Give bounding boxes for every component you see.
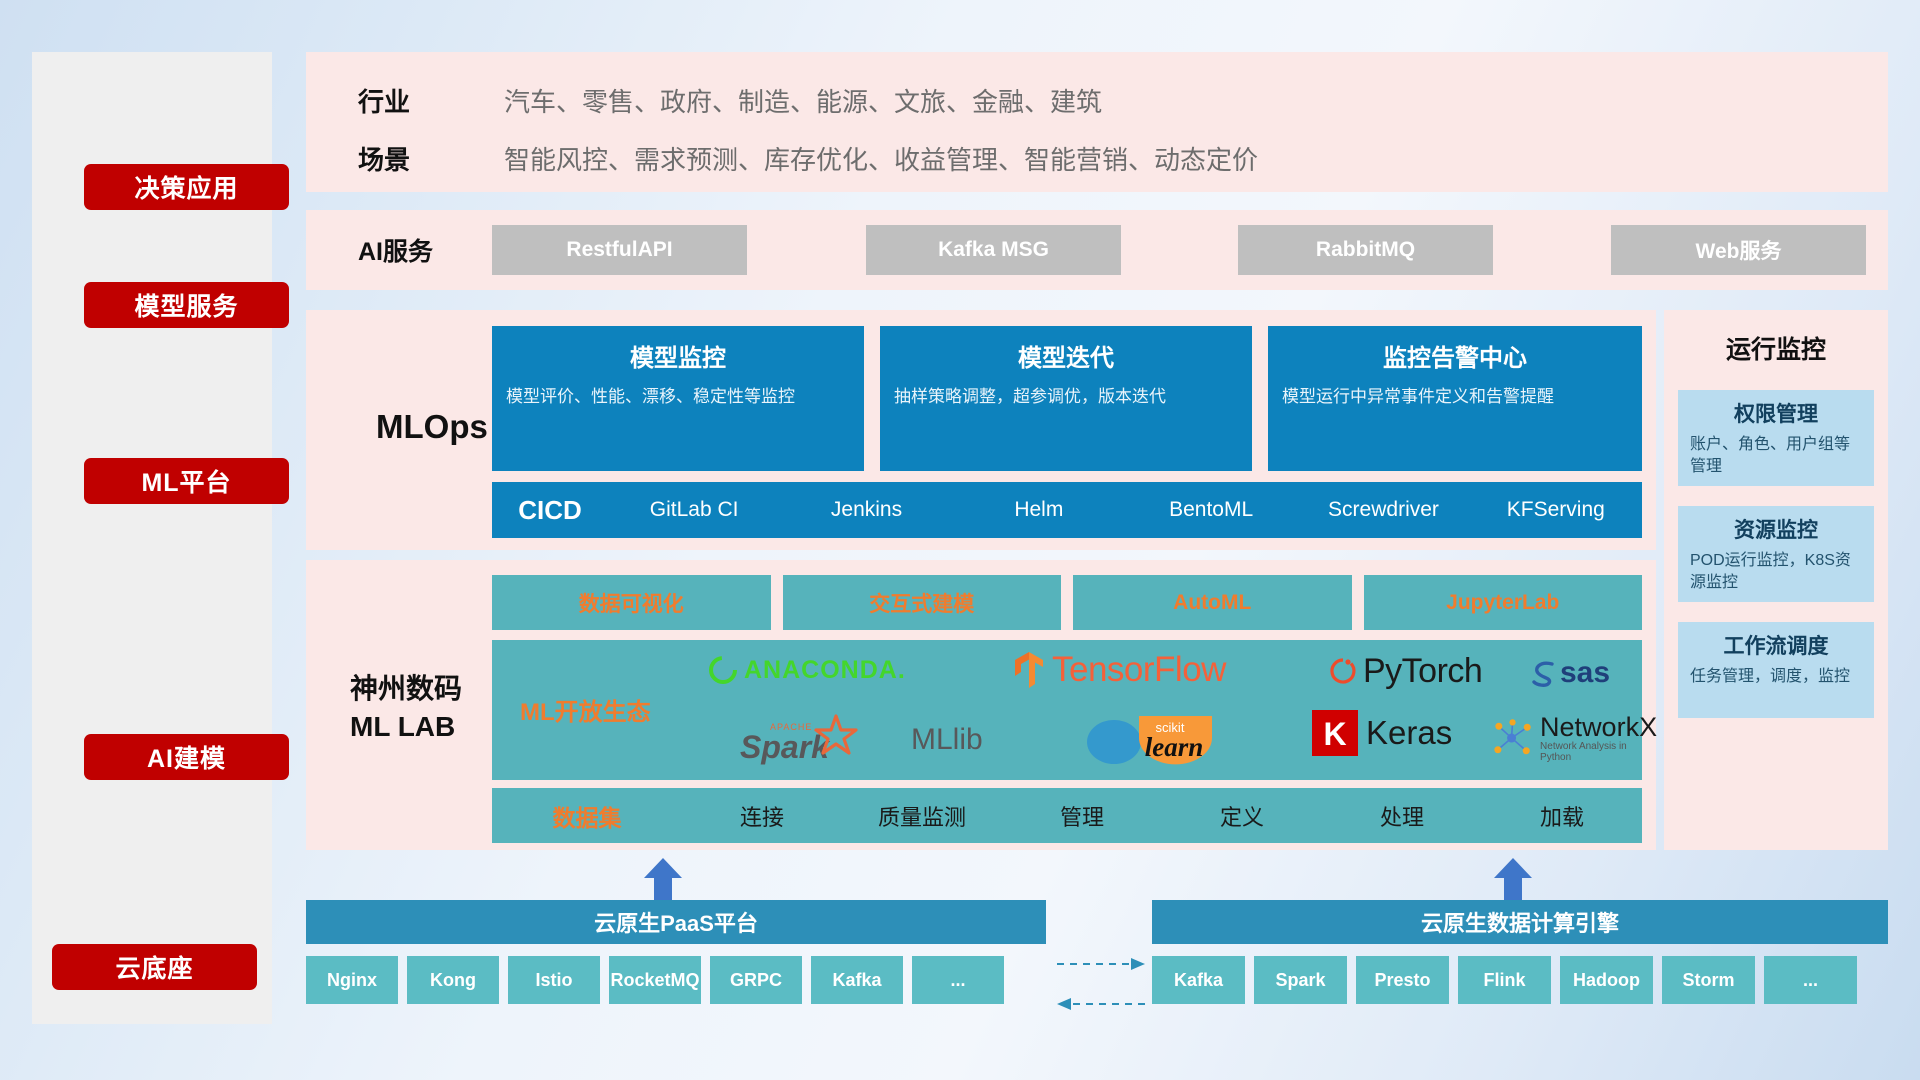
architecture-diagram: 决策应用 模型服务 ML平台 AI建模 云底座 行业 汽车、零售、政府、制造、能… xyxy=(0,0,1920,1080)
card-title: 权限管理 xyxy=(1690,398,1862,428)
card-desc: 账户、角色、用户组等管理 xyxy=(1690,434,1862,477)
sas-icon xyxy=(1528,658,1558,688)
card-desc: 模型评价、性能、漂移、稳定性等监控 xyxy=(506,385,850,408)
rail-item-decision-app[interactable]: 决策应用 xyxy=(84,164,289,210)
tag-istio[interactable]: Istio xyxy=(508,956,600,1004)
ml-ecosystem-caption: ML开放生态 xyxy=(520,692,651,727)
cicd-item-screwdriver[interactable]: Screwdriver xyxy=(1297,499,1469,521)
cicd-item-gitlab-ci[interactable]: GitLab CI xyxy=(608,499,780,521)
monitor-card-resource[interactable]: 资源监控 POD运行监控，K8S资源监控 xyxy=(1678,506,1874,602)
ml-ecosystem-panel: ML开放生态 ANACONDA . TensorFlow xyxy=(492,640,1642,780)
pytorch-icon xyxy=(1328,655,1358,689)
tag-flink[interactable]: Flink xyxy=(1458,956,1551,1004)
bidirectional-link-icon xyxy=(1055,952,1147,1022)
ml-lab-label-line2: ML LAB xyxy=(350,708,462,746)
runtime-monitor-panel: 运行监控 权限管理 账户、角色、用户组等管理 资源监控 POD运行监控，K8S资… xyxy=(1664,310,1888,850)
mlops-card-model-monitor[interactable]: 模型监控 模型评价、性能、漂移、稳定性等监控 xyxy=(492,326,864,471)
sas-logo: sas xyxy=(1528,656,1610,690)
keras-wordmark: Keras xyxy=(1366,714,1452,752)
tensorflow-wordmark: TensorFlow xyxy=(1052,650,1226,690)
tool-interactive-modeling[interactable]: 交互式建模 xyxy=(783,575,1062,630)
cicd-item-kfserving[interactable]: KFServing xyxy=(1470,499,1642,521)
scikit-learn-logo: scikit learn xyxy=(1084,710,1244,768)
dataset-item-define[interactable]: 定义 xyxy=(1162,800,1322,832)
ai-service-label: AI服务 xyxy=(358,232,433,268)
dataset-row: 数据集 连接 质量监测 管理 定义 处理 加载 xyxy=(492,788,1642,843)
mlops-card-alert-center[interactable]: 监控告警中心 模型运行中异常事件定义和告警提醒 xyxy=(1268,326,1642,471)
scikit-learn-icon: scikit learn xyxy=(1084,710,1244,768)
svg-text:Spark: Spark xyxy=(740,729,831,765)
svg-text:learn: learn xyxy=(1145,732,1204,762)
industry-list: 汽车、零售、政府、制造、能源、文旅、金融、建筑 xyxy=(504,82,1102,119)
tag-more-right[interactable]: ... xyxy=(1764,956,1857,1004)
anaconda-logo: ANACONDA . xyxy=(707,654,905,686)
monitor-card-permission[interactable]: 权限管理 账户、角色、用户组等管理 xyxy=(1678,390,1874,486)
tool-data-visualization[interactable]: 数据可视化 xyxy=(492,575,771,630)
left-rail: 决策应用 模型服务 ML平台 AI建模 xyxy=(32,52,272,1024)
ai-service-chip-rabbitmq[interactable]: RabbitMQ xyxy=(1238,225,1493,275)
dataset-item-quality-monitor[interactable]: 质量监测 xyxy=(842,800,1002,832)
ai-service-chip-web-service[interactable]: Web服务 xyxy=(1611,225,1866,275)
ai-service-chip-kafka-msg[interactable]: Kafka MSG xyxy=(866,225,1121,275)
card-title: 资源监控 xyxy=(1690,514,1862,544)
mllib-wordmark: MLlib xyxy=(911,723,983,757)
paas-platform-bar[interactable]: 云原生PaaS平台 xyxy=(306,900,1046,944)
keras-icon: K xyxy=(1312,710,1358,756)
dataset-item-process[interactable]: 处理 xyxy=(1322,800,1482,832)
ai-service-chip-restfulapi[interactable]: RestfulAPI xyxy=(492,225,747,275)
paas-tag-list: Nginx Kong Istio RocketMQ GRPC Kafka ... xyxy=(306,956,1046,1004)
compute-tag-list: Kafka Spark Presto Flink Hadoop Storm ..… xyxy=(1152,956,1888,1004)
scenario-label: 场景 xyxy=(358,140,410,177)
mlops-band: MLOps 模型监控 模型评价、性能、漂移、稳定性等监控 模型迭代 抽样策略调整… xyxy=(306,310,1656,550)
monitor-card-workflow[interactable]: 工作流调度 任务管理，调度，监控 xyxy=(1678,622,1874,718)
sas-wordmark: sas xyxy=(1560,656,1610,690)
ai-service-band: AI服务 RestfulAPI Kafka MSG RabbitMQ Web服务 xyxy=(306,210,1888,290)
rail-label: 云底座 xyxy=(115,949,193,985)
rail-label: 模型服务 xyxy=(134,287,238,323)
rail-label: 决策应用 xyxy=(134,169,238,205)
mlops-card-model-iteration[interactable]: 模型迭代 抽样策略调整，超参调优，版本迭代 xyxy=(880,326,1252,471)
cicd-item-bentoml[interactable]: BentoML xyxy=(1125,499,1297,521)
cicd-item-helm[interactable]: Helm xyxy=(953,499,1125,521)
card-title: 监控告警中心 xyxy=(1282,338,1628,373)
card-title: 模型迭代 xyxy=(894,338,1238,373)
dataset-item-load[interactable]: 加载 xyxy=(1482,800,1642,832)
modeling-tools-row: 数据可视化 交互式建模 AutoML JupyterLab xyxy=(492,575,1642,630)
scenario-list: 智能风控、需求预测、库存优化、收益管理、智能营销、动态定价 xyxy=(504,140,1258,177)
tag-storm[interactable]: Storm xyxy=(1662,956,1755,1004)
dataset-item-connect[interactable]: 连接 xyxy=(682,800,842,832)
tag-kafka-right[interactable]: Kafka xyxy=(1152,956,1245,1004)
cicd-item-jenkins[interactable]: Jenkins xyxy=(780,499,952,521)
anaconda-icon xyxy=(707,654,739,686)
networkx-wordmark: NetworkX xyxy=(1540,714,1658,741)
tag-spark[interactable]: Spark xyxy=(1254,956,1347,1004)
ml-lab-label-line1: 神州数码 xyxy=(350,670,462,708)
spark-mllib-logo: APACHE Spark MLlib xyxy=(740,714,983,766)
tag-nginx[interactable]: Nginx xyxy=(306,956,398,1004)
data-compute-engine-bar[interactable]: 云原生数据计算引擎 xyxy=(1152,900,1888,944)
dataset-caption: 数据集 xyxy=(492,799,682,833)
networkx-icon xyxy=(1492,718,1535,760)
cicd-row: CICD GitLab CI Jenkins Helm BentoML Scre… xyxy=(492,482,1642,538)
cicd-title: CICD xyxy=(492,495,608,526)
card-title: 工作流调度 xyxy=(1690,630,1862,660)
tag-rocketmq[interactable]: RocketMQ xyxy=(609,956,701,1004)
rail-item-cloud-base[interactable]: 云底座 xyxy=(52,944,257,990)
tool-automl[interactable]: AutoML xyxy=(1073,575,1352,630)
ml-lab-label: 神州数码 ML LAB xyxy=(350,670,462,746)
keras-logo: K Keras xyxy=(1312,710,1452,756)
arrow-up-right-icon xyxy=(1490,856,1536,902)
modeling-band: 神州数码 ML LAB 数据可视化 交互式建模 AutoML JupyterLa… xyxy=(306,560,1656,850)
card-desc: 模型运行中异常事件定义和告警提醒 xyxy=(1282,385,1628,408)
application-band: 行业 汽车、零售、政府、制造、能源、文旅、金融、建筑 场景 智能风控、需求预测、… xyxy=(306,52,1888,192)
rail-label: AI建模 xyxy=(147,739,226,775)
card-title: 模型监控 xyxy=(506,338,850,373)
pytorch-logo: PyTorch xyxy=(1328,652,1482,691)
runtime-monitor-title: 运行监控 xyxy=(1664,310,1888,370)
tag-kafka-left[interactable]: Kafka xyxy=(811,956,903,1004)
tag-presto[interactable]: Presto xyxy=(1356,956,1449,1004)
anaconda-dot: . xyxy=(898,656,905,685)
dataset-item-manage[interactable]: 管理 xyxy=(1002,800,1162,832)
card-desc: 抽样策略调整，超参调优，版本迭代 xyxy=(894,385,1238,408)
tag-grpc[interactable]: GRPC xyxy=(710,956,802,1004)
rail-item-ai-modeling[interactable]: AI建模 xyxy=(84,734,289,780)
tool-jupyterlab[interactable]: JupyterLab xyxy=(1364,575,1643,630)
spark-icon: APACHE Spark xyxy=(740,714,905,766)
tag-hadoop[interactable]: Hadoop xyxy=(1560,956,1653,1004)
card-desc: POD运行监控，K8S资源监控 xyxy=(1690,550,1862,593)
anaconda-wordmark: ANACONDA xyxy=(744,656,898,685)
tag-kong[interactable]: Kong xyxy=(407,956,499,1004)
svg-text:K: K xyxy=(1323,716,1346,752)
rail-label: ML平台 xyxy=(141,463,231,499)
mlops-label: MLOps xyxy=(376,408,488,446)
tag-more-left[interactable]: ... xyxy=(912,956,1004,1004)
card-desc: 任务管理，调度，监控 xyxy=(1690,666,1862,688)
rail-item-ml-platform[interactable]: ML平台 xyxy=(84,458,289,504)
tensorflow-logo: TensorFlow xyxy=(1012,650,1226,690)
rail-item-model-service[interactable]: 模型服务 xyxy=(84,282,289,328)
arrow-up-left-icon xyxy=(640,856,686,902)
networkx-tagline: Network Analysis in Python xyxy=(1540,741,1658,763)
pytorch-wordmark: PyTorch xyxy=(1363,652,1482,691)
industry-label: 行业 xyxy=(358,82,410,119)
networkx-logo: NetworkX Network Analysis in Python xyxy=(1492,714,1658,763)
tensorflow-icon xyxy=(1012,650,1046,690)
